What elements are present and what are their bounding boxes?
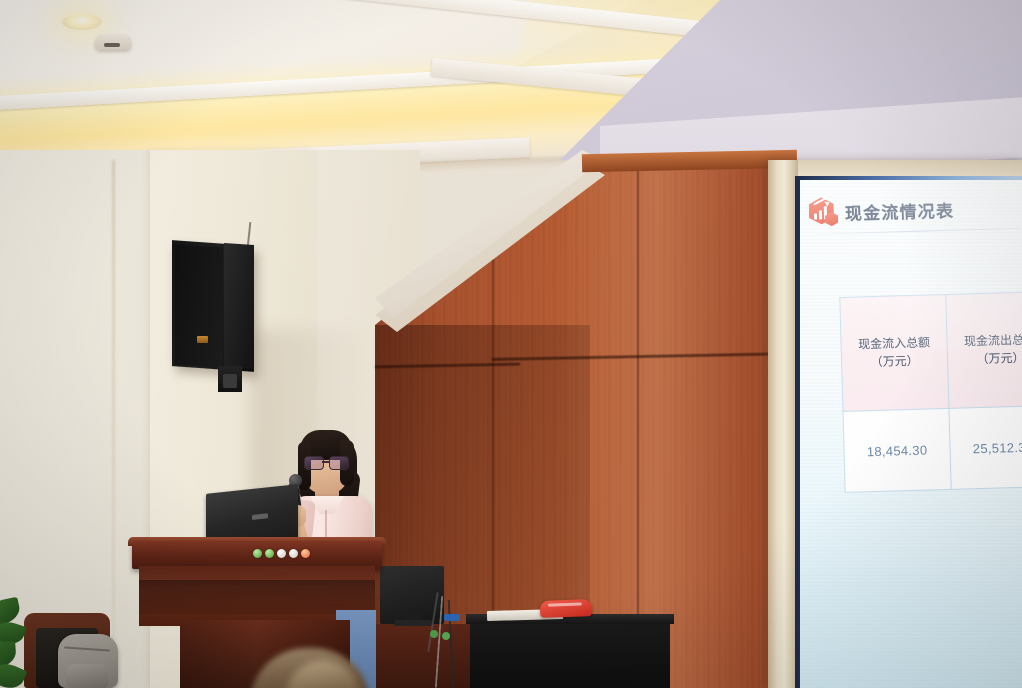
icon-bar-1	[814, 214, 817, 220]
table-header-cash-outflow: 现金流出总额 （万元）	[946, 292, 1022, 409]
indicator-dot-green-1	[253, 549, 262, 558]
projection-screen-surface: 现金流情况表 现金流入总额 （万元） 现金流出总额 （万元）	[800, 180, 1022, 688]
presentation-room-photo: 现金流情况表 现金流入总额 （万元） 现金流出总额 （万元）	[0, 0, 1022, 688]
slide-title-row: 现金流情况表	[808, 194, 954, 228]
plant-leaf	[0, 659, 27, 688]
backpack-front-pocket	[66, 664, 108, 688]
header-label-line1: 现金流入总额	[858, 336, 930, 352]
cash-flow-table: 现金流入总额 （万元） 现金流出总额 （万元） 18,454.30 25,512…	[839, 291, 1022, 493]
wood-seam-vertical-2	[637, 166, 639, 688]
icon-bar-2	[819, 210, 822, 219]
cell-cash-outflow-value: 25,512.31	[949, 405, 1022, 489]
red-device	[540, 599, 593, 618]
blue-connector	[444, 614, 460, 621]
indicator-dot-orange	[301, 549, 310, 558]
indicator-dot-white-1	[277, 549, 286, 558]
speaker-badge	[197, 336, 208, 343]
lectern-front-shadow	[139, 580, 375, 614]
chart-hexagon-icon	[808, 197, 837, 228]
lectern-indicator-dots	[253, 549, 310, 558]
eyeglass-lens-right	[329, 456, 349, 470]
table-header-row: 现金流入总额 （万元） 现金流出总额 （万元）	[840, 292, 1022, 412]
slide-title-underline	[808, 228, 1020, 235]
recessed-downlight	[62, 14, 102, 30]
laptop-logo	[252, 513, 268, 520]
slide-content: 现金流情况表 现金流入总额 （万元） 现金流出总额 （万元）	[800, 180, 1022, 688]
table-header-cash-inflow: 现金流入总额 （万元）	[840, 294, 949, 411]
monitor-base	[394, 620, 432, 626]
screen-frame-molding	[768, 160, 798, 688]
header-label-line1: 现金流出总额	[964, 333, 1022, 349]
indicator-dot-white-2	[289, 549, 298, 558]
eyeglasses-icon	[303, 456, 349, 468]
speaker-grille	[175, 244, 223, 367]
table-row: 18,454.30 25,512.31	[843, 405, 1022, 492]
wall-column-edge	[112, 160, 115, 680]
speaker-side-panel	[224, 243, 254, 369]
green-connector-1	[430, 630, 438, 638]
eyeglass-lens-left	[304, 456, 324, 470]
header-label-line2: （万元）	[870, 353, 918, 368]
speaker-mount-plate	[223, 374, 237, 388]
smoke-detector	[95, 34, 131, 50]
green-connector-2	[442, 632, 450, 640]
potted-plant	[0, 598, 42, 688]
cell-cash-inflow-value: 18,454.30	[843, 408, 951, 492]
indicator-dot-green-2	[265, 549, 274, 558]
av-equipment-table	[470, 620, 670, 688]
header-label-line2: （万元）	[976, 350, 1022, 365]
slide-title: 现金流情况表	[845, 196, 955, 224]
